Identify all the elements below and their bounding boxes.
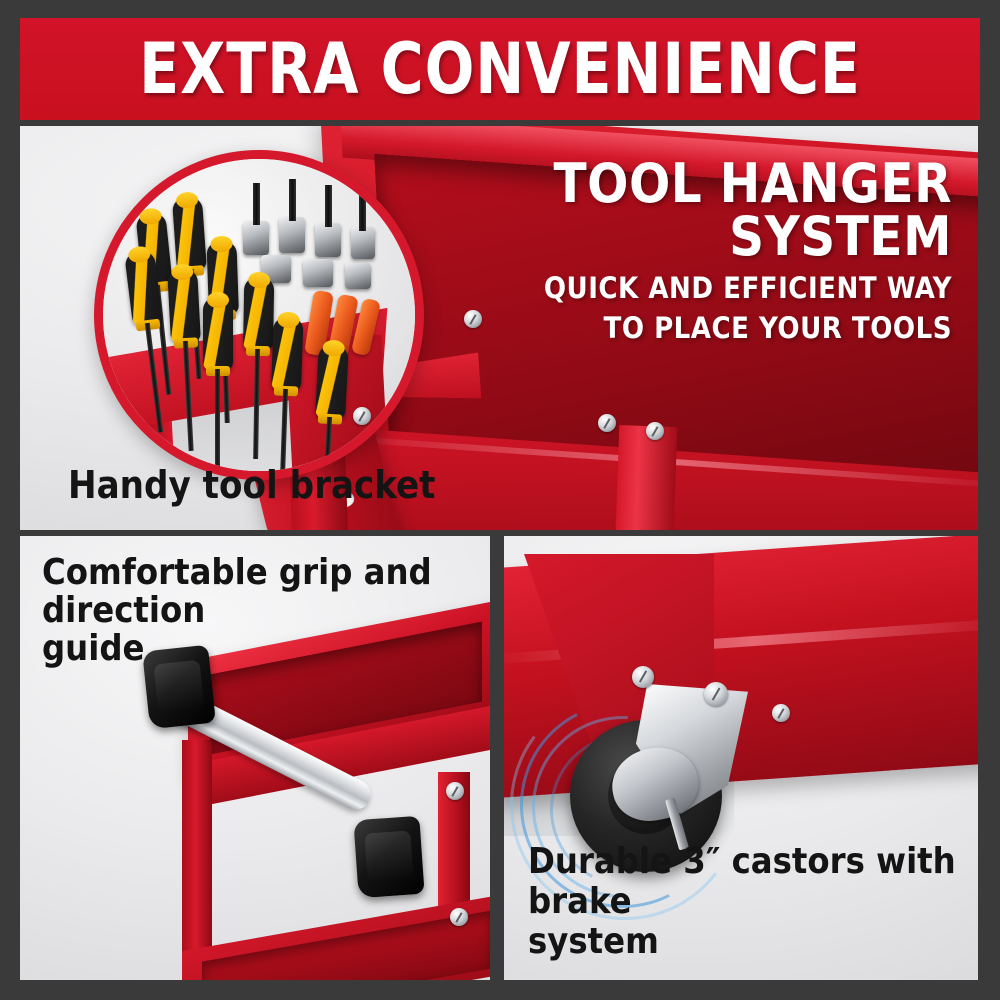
caption-line-2: system (528, 922, 958, 962)
screw-icon (704, 682, 728, 706)
socket-icon (303, 259, 333, 287)
cart-lower-shelf (182, 893, 490, 980)
caption-line-2: guide (42, 630, 472, 668)
cart-handle-illustration (160, 622, 490, 980)
bit-stem-icon (325, 185, 332, 227)
caption-handy-tool-bracket: Handy tool bracket (68, 464, 436, 506)
screwdriver-icon (243, 277, 274, 352)
screwdriver-cap (210, 236, 233, 253)
socket-icon (243, 221, 269, 255)
cart-upright-left (182, 740, 212, 980)
screwdriver-cap (171, 264, 194, 281)
socket-icon (345, 263, 371, 289)
header-banner: EXTRA CONVENIENCE (20, 18, 980, 120)
screwdriver-grip (203, 297, 233, 371)
panel-tool-hanger-system: TOOL HANGER SYSTEM QUICK AND EFFICIENT W… (20, 126, 978, 530)
caption-comfortable-grip: Comfortable grip and direction guide (42, 554, 472, 668)
screw-icon (772, 704, 790, 722)
panel-durable-castors: Durable 3″ castors with brake system (504, 536, 978, 980)
handle-grip-cap-bottom (353, 816, 424, 898)
screwdriver-icon (315, 344, 349, 419)
screw-icon (446, 782, 464, 800)
screw-icon (450, 908, 468, 926)
magnifier-inset (94, 150, 424, 480)
screwdriver-icon (271, 317, 304, 392)
screwdriver-icon (203, 297, 233, 371)
subtitle-line-2: TO PLACE YOUR TOOLS (522, 312, 952, 344)
screwdriver-grip (167, 268, 201, 343)
screwdriver-cap (127, 245, 151, 264)
screw-icon (464, 310, 482, 328)
screwdriver-cap (207, 292, 229, 308)
screwdriver-grip (172, 196, 207, 272)
socket-icon (279, 217, 305, 253)
screwdriver-cap (248, 272, 270, 288)
screw-icon (353, 407, 371, 425)
screw-icon (598, 414, 616, 432)
bit-stem-icon (289, 179, 296, 221)
screwdriver-icon (172, 196, 207, 272)
page-title: EXTRA CONVENIENCE (54, 34, 947, 104)
screw-icon (632, 666, 654, 688)
screwdriver-cap (176, 191, 199, 208)
product-feature-poster: EXTRA CONVENIENCE (0, 0, 1000, 1000)
cart-lower-shelf-well (202, 910, 490, 980)
screwdriver-cap (139, 207, 163, 225)
cart-support-post-right (613, 425, 678, 530)
bit-stem-icon (253, 183, 260, 225)
screwdriver-cap (277, 312, 300, 329)
tool-hanger-copy-block: TOOL HANGER SYSTEM QUICK AND EFFICIENT W… (522, 158, 952, 344)
bit-stem-icon (359, 189, 366, 231)
screw-icon (646, 422, 664, 440)
caption-line-1: Durable 3″ castors with brake (528, 842, 958, 922)
subtitle-line-1: QUICK AND EFFICIENT WAY (522, 272, 952, 304)
caption-durable-castors: Durable 3″ castors with brake system (528, 842, 958, 962)
socket-icon (351, 227, 375, 259)
socket-icon (315, 223, 341, 257)
screwdriver-grip (271, 317, 304, 392)
screwdriver-grip (243, 277, 274, 352)
panel-comfortable-grip: Comfortable grip and direction guide (20, 536, 490, 980)
caption-line-1: Comfortable grip and direction (42, 554, 472, 630)
screwdriver-cap (322, 340, 345, 357)
screwdriver-grip (315, 344, 349, 419)
headline-line-1: TOOL HANGER (522, 158, 952, 210)
screwdriver-icon (167, 268, 201, 343)
headline-line-2: SYSTEM (522, 210, 952, 264)
